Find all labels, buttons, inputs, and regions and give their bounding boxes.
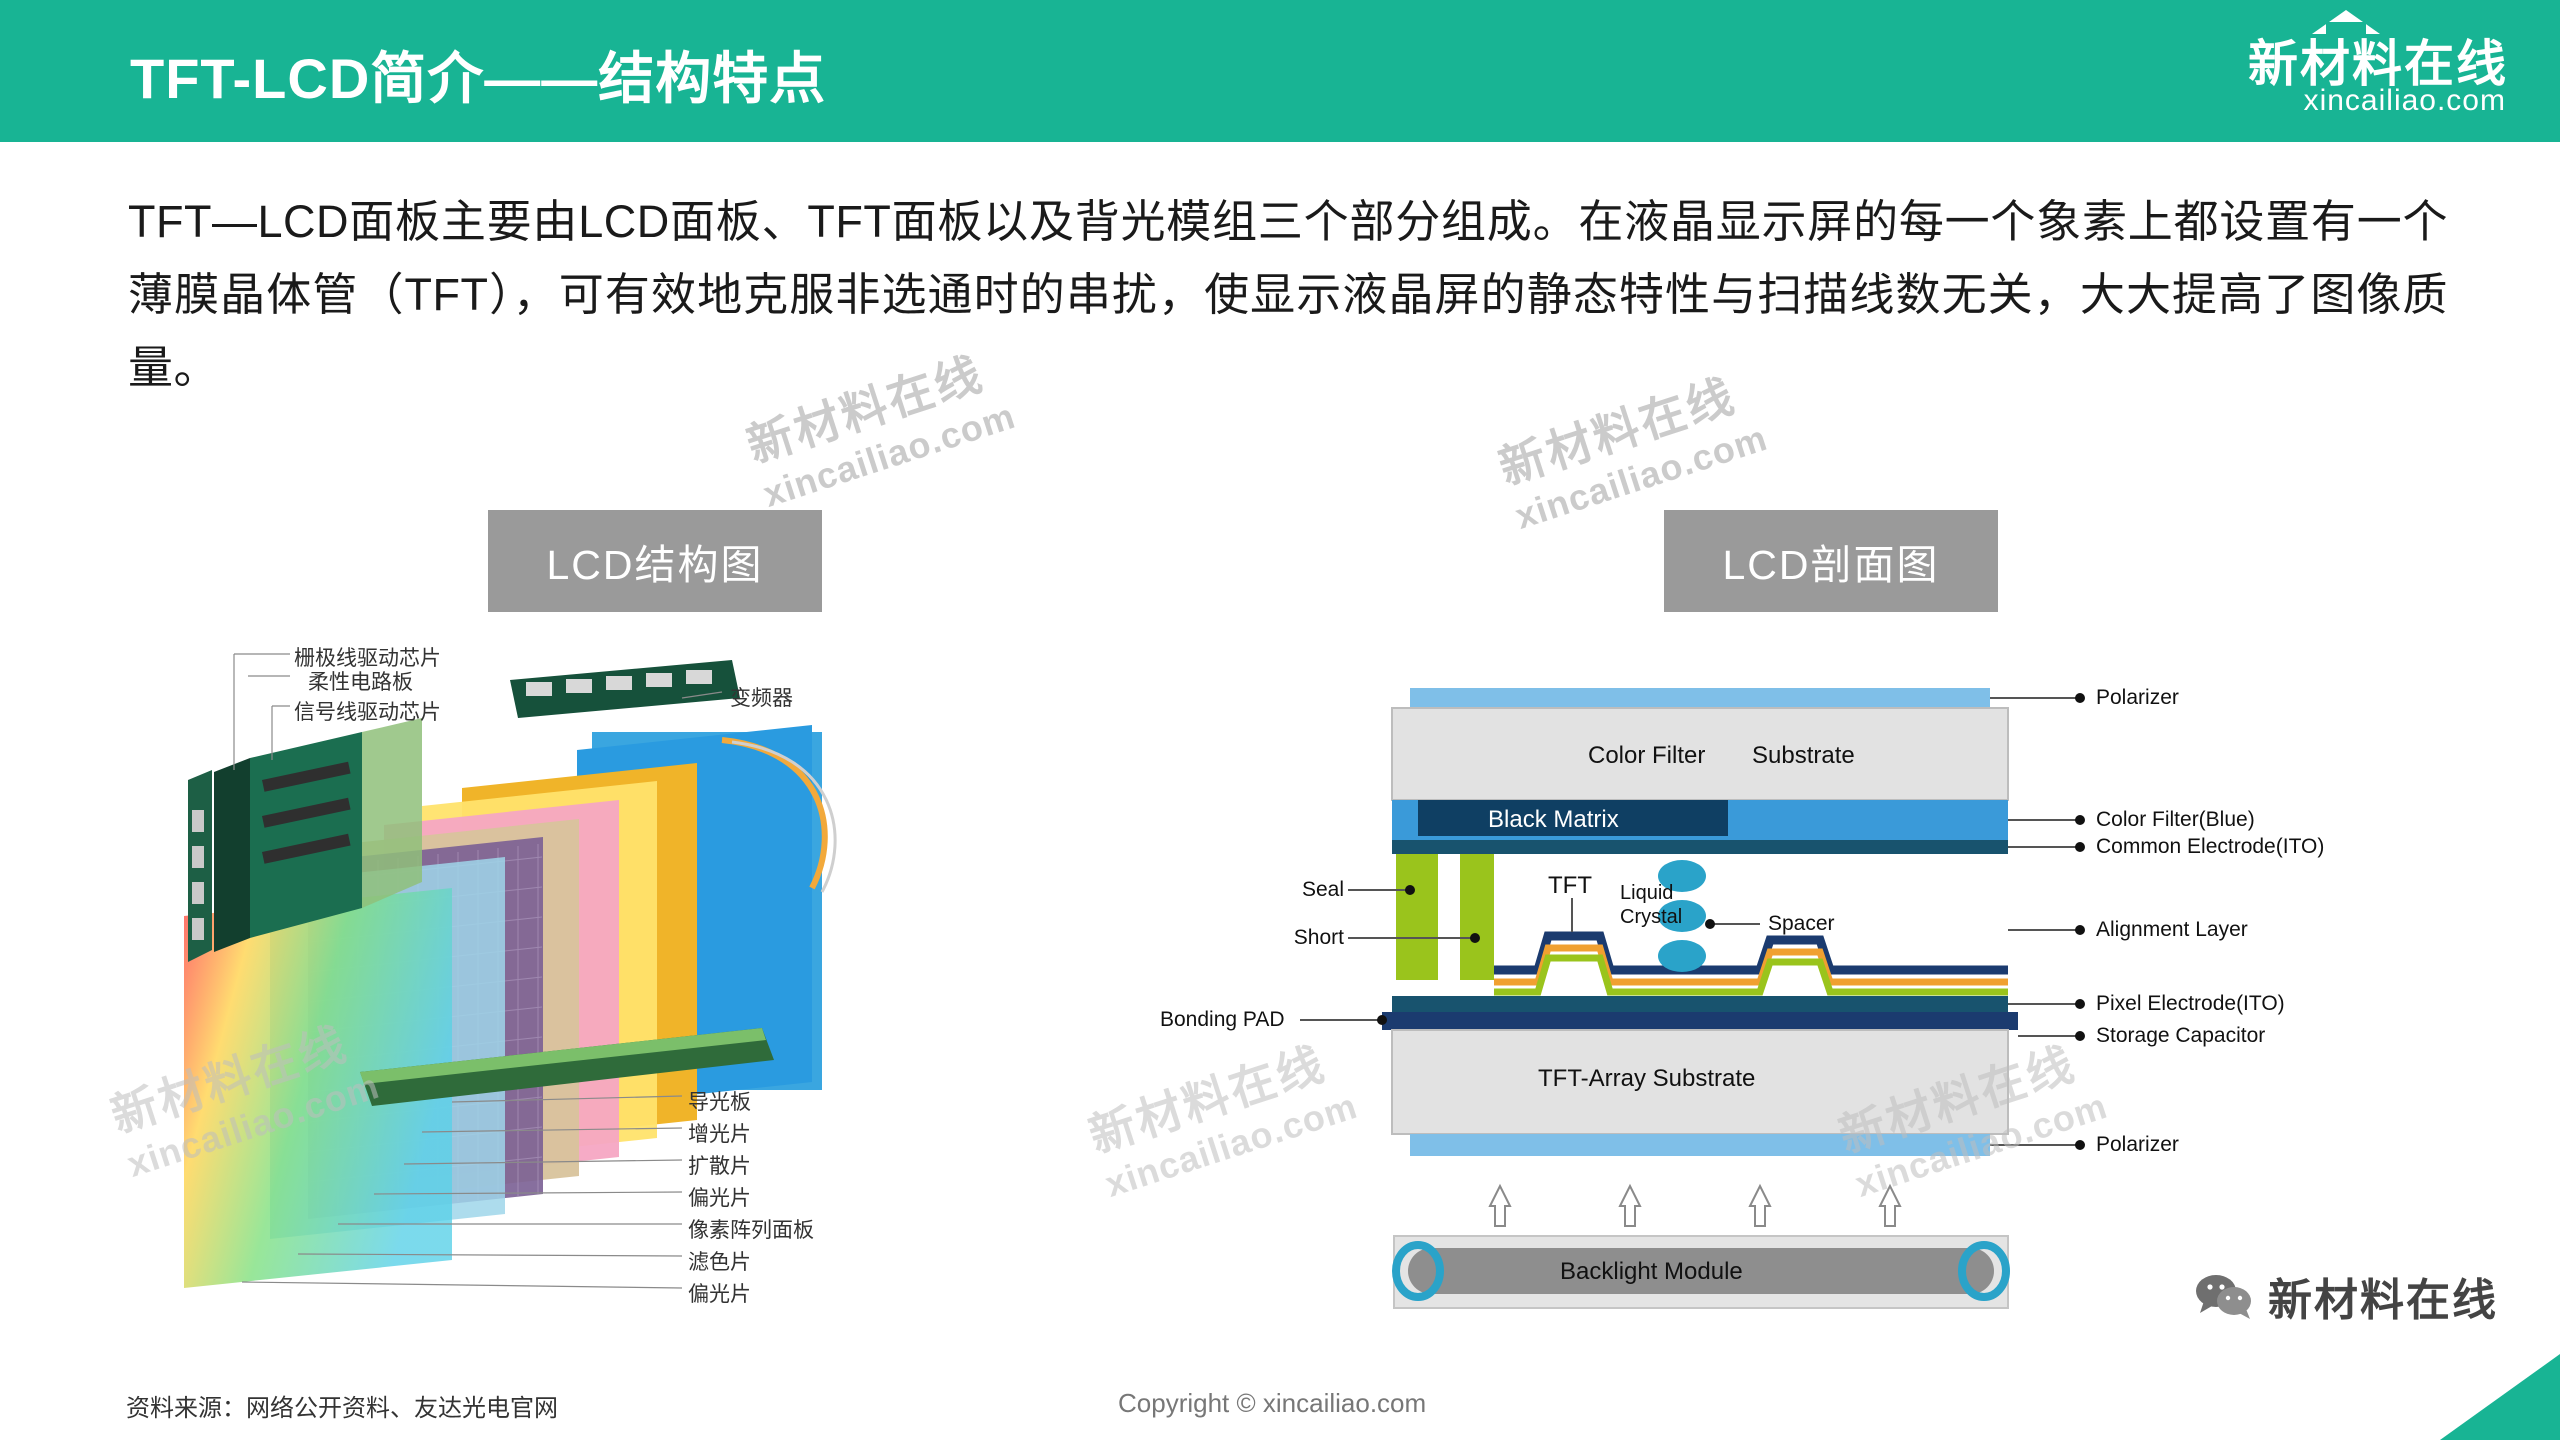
copyright-note: Copyright © xincailiao.com [1118, 1388, 1426, 1419]
left-figure-label-pixel-array: 像素阵列面板 [688, 1214, 814, 1244]
left-figure-label-brightness-film: 增光片 [688, 1118, 751, 1148]
left-figure-label-color-filter: 滤色片 [688, 1246, 751, 1276]
brand-logo: 新材料在线 xincailiao.com [2128, 12, 2508, 130]
slide-root: TFT-LCD简介——结构特点 新材料在线 xincailiao.com TFT… [0, 0, 2560, 1440]
right-figure-left-label-seal: Seal [1290, 878, 1344, 902]
right-figure-right-label-polarizer-bottom: Polarizer [2096, 1133, 2179, 1157]
right-figure-label-substrate: Substrate [1752, 742, 1855, 770]
right-figure-label-liquid: Liquid [1620, 882, 1673, 905]
right-figure-label-black-matrix: Black Matrix [1488, 806, 1619, 834]
figure-lcd-exploded: 栅极线驱动芯片 柔性电路板 信号线驱动芯片 变频器 导光板 增光片 扩散片 偏光… [122, 620, 1200, 1360]
wechat-label: 新材料在线 [2268, 1264, 2498, 1328]
right-figure-label-backlight-module: Backlight Module [1560, 1258, 1743, 1286]
right-figure-label-tft: TFT [1548, 872, 1592, 900]
right-figure-label-color-filter: Color Filter [1588, 742, 1705, 770]
left-figure-label-polarizer-lower: 偏光片 [688, 1182, 751, 1212]
caption-lcd-cross-section: LCD剖面图 [1664, 510, 1998, 612]
left-figure-label-inverter: 变频器 [730, 682, 793, 712]
right-figure-left-label-short: Short [1290, 926, 1344, 950]
slide-header: TFT-LCD简介——结构特点 新材料在线 xincailiao.com [0, 0, 2560, 142]
left-figure-label-diffuser: 扩散片 [688, 1150, 751, 1180]
left-figure-label-signal-driver: 信号线驱动芯片 [294, 696, 441, 726]
corner-accent [2440, 1354, 2560, 1440]
right-figure-left-label-bonding-pad: Bonding PAD [1160, 1008, 1285, 1032]
body-paragraph: TFT—LCD面板主要由LCD面板、TFT面板以及背光模组三个部分组成。在液晶显… [128, 186, 2448, 405]
right-figure-right-label-polarizer-top: Polarizer [2096, 686, 2179, 710]
right-figure-label-crystal: Crystal [1620, 906, 1682, 929]
left-figure-label-light-guide: 导光板 [688, 1086, 751, 1116]
lcd-exploded-svg [122, 620, 1200, 1360]
wechat-icon [2194, 1273, 2252, 1319]
right-figure-right-label-alignment-layer: Alignment Layer [2096, 918, 2248, 942]
right-figure-right-label-pixel-electrode: Pixel Electrode(ITO) [2096, 992, 2285, 1016]
wechat-badge: 新材料在线 [2194, 1264, 2498, 1328]
left-figure-label-polarizer-upper: 偏光片 [688, 1278, 751, 1308]
right-figure-right-label-storage-capacitor: Storage Capacitor [2096, 1024, 2265, 1048]
brand-logo-en: xincailiao.com [2304, 84, 2506, 118]
right-figure-right-label-common-electrode: Common Electrode(ITO) [2096, 835, 2324, 859]
right-figure-label-tft-array-substrate: TFT-Array Substrate [1538, 1065, 1755, 1093]
left-figure-label-flex-pcb: 柔性电路板 [308, 666, 413, 696]
source-note: 资料来源：网络公开资料、友达光电官网 [126, 1388, 558, 1423]
right-figure-right-label-color-filter-blue: Color Filter(Blue) [2096, 808, 2255, 832]
right-figure-label-spacer: Spacer [1768, 912, 1835, 936]
caption-lcd-structure: LCD结构图 [488, 510, 822, 612]
page-title: TFT-LCD简介——结构特点 [130, 34, 826, 115]
